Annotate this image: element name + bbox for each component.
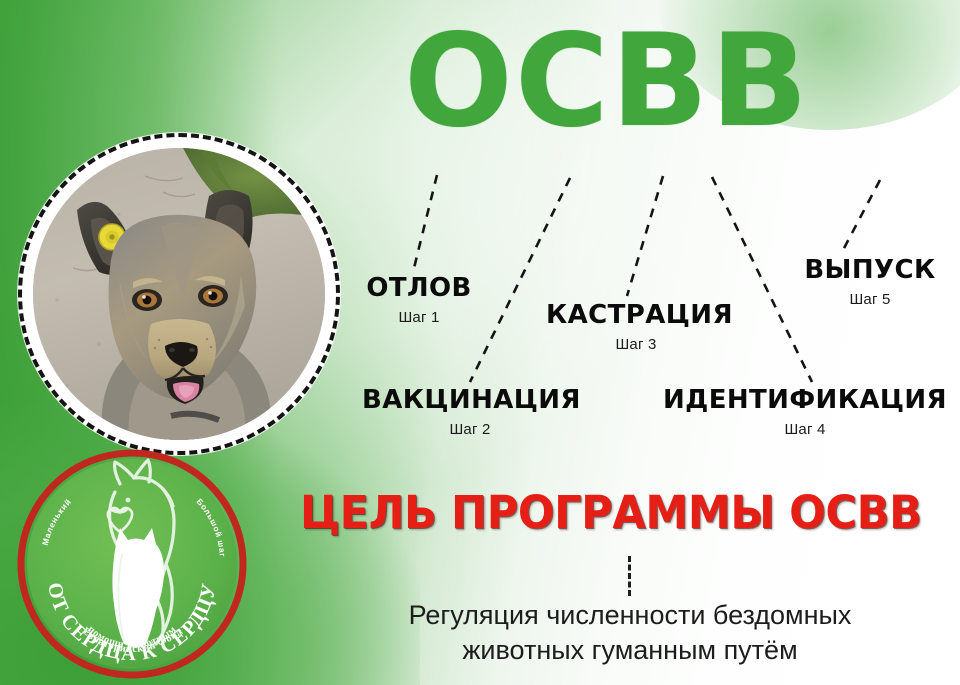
step-title: ВЫПУСК [800,257,940,284]
step-item-vypusk: ВЫПУСК Шаг 5 [800,257,940,308]
step-title: ИДЕНТИФИКАЦИЯ [660,387,950,414]
goal-heading: ЦЕЛЬ ПРОГРАММЫ ОСВВ [300,486,934,539]
step-number: Шаг 3 [546,336,726,353]
goal-description-line-1: Регуляция численности бездомных [330,598,930,633]
goal-description: Регуляция численности бездомных животных… [330,598,930,667]
charity-logo: Маленький шаг для человека Большой шаг к… [16,448,248,680]
step-title: КАСТРАЦИЯ [546,302,726,329]
step-number: Шаг 4 [660,421,950,438]
step-item-kastraciya: КАСТРАЦИЯ Шаг 3 [546,302,726,353]
step-item-identifikaciya: ИДЕНТИФИКАЦИЯ Шаг 4 [660,387,950,438]
step-title: ОТЛОВ [364,275,474,302]
step-item-vakcinaciya: ВАКЦИНАЦИЯ Шаг 2 [362,387,578,438]
poster-root: ОСВВ ОТЛОВ Шаг 1 ВАКЦИНАЦИЯ Шаг 2 КАСТРА… [0,0,960,685]
step-title: ВАКЦИНАЦИЯ [362,387,578,414]
photo-dashed-border [18,133,340,455]
goal-divider [628,556,631,596]
step-number: Шаг 2 [362,421,578,438]
step-item-otlov: ОТЛОВ Шаг 1 [364,275,474,326]
page-title: ОСВВ [404,18,810,146]
step-number: Шаг 1 [364,309,474,326]
step-number: Шаг 5 [800,291,940,308]
goal-description-line-2: животных гуманным путём [330,633,930,668]
